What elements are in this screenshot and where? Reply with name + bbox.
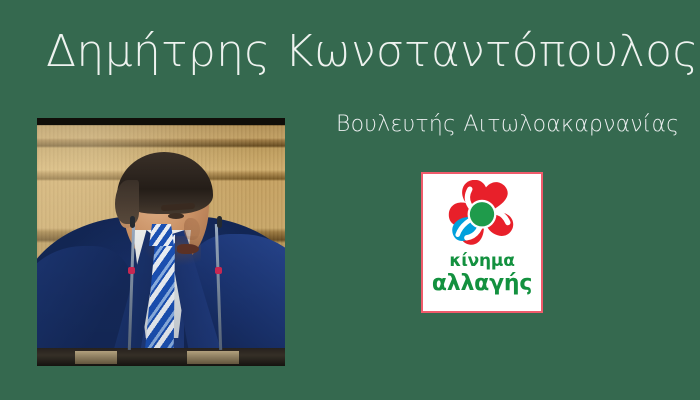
kinima-allagis-rosette-icon: [444, 180, 520, 250]
photo-sideburn: [115, 180, 139, 224]
page-title: Δημήτρης Κωνσταντόπουλος: [46, 26, 666, 78]
photo-necktie-knot: [149, 224, 174, 246]
party-logo-card: κίνημα αλλαγής: [421, 172, 543, 313]
photo-mouth: [177, 244, 199, 254]
party-name-line-1: κίνημα: [449, 253, 514, 270]
photo-nose: [184, 218, 200, 240]
microphone-right-band: [215, 267, 222, 274]
photo-top-band: [37, 118, 285, 125]
politician-photo: [37, 118, 285, 366]
photo-eye: [168, 213, 184, 219]
profile-banner: Δημήτρης Κωνσταντόπουλος Βουλευτής Αιτωλ…: [0, 0, 700, 400]
party-name-line-2: αλλαγής: [432, 273, 532, 295]
role-subtitle: Βουλευτής Αιτωλοακαρνανίας: [336, 111, 666, 139]
photo-podium-plate-left: [75, 351, 117, 364]
microphone-left-band: [128, 267, 135, 274]
microphone-right-head: [217, 216, 222, 228]
photo-podium-plate-right: [187, 351, 239, 364]
microphone-left-head: [130, 216, 135, 228]
